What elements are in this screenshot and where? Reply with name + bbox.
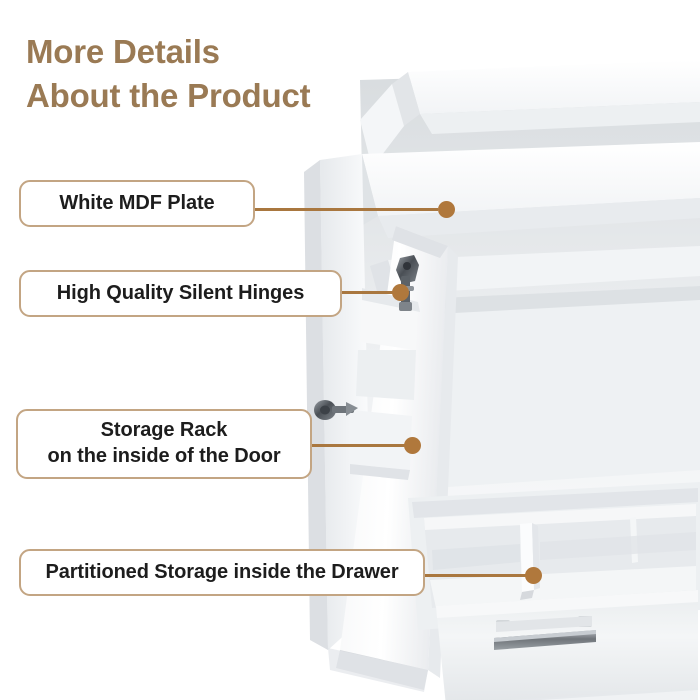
product-photo bbox=[300, 50, 700, 700]
callout-storage-rack-inside-door[interactable]: Storage Rack on the inside of the Door bbox=[16, 409, 312, 479]
page-title: More Details About the Product bbox=[26, 30, 426, 118]
callout-high-quality-silent-hinges[interactable]: High Quality Silent Hinges bbox=[19, 270, 342, 317]
connector-dot-storage-rack bbox=[404, 437, 421, 454]
connector-dot-partitioned-storage bbox=[525, 567, 542, 584]
connector-dot-white-mdf-plate bbox=[438, 201, 455, 218]
infographic-page: More Details About the Product White MDF… bbox=[0, 0, 700, 700]
connector-line-silent-hinges bbox=[342, 291, 397, 294]
connector-line-white-mdf-plate bbox=[255, 208, 438, 211]
connector-dot-silent-hinges bbox=[392, 284, 409, 301]
callout-white-mdf-plate[interactable]: White MDF Plate bbox=[19, 180, 255, 227]
drawer-front bbox=[436, 590, 698, 700]
callout-partitioned-storage-drawer[interactable]: Partitioned Storage inside the Drawer bbox=[19, 549, 425, 596]
connector-line-partitioned-storage bbox=[425, 574, 532, 577]
connector-line-storage-rack bbox=[312, 444, 409, 447]
